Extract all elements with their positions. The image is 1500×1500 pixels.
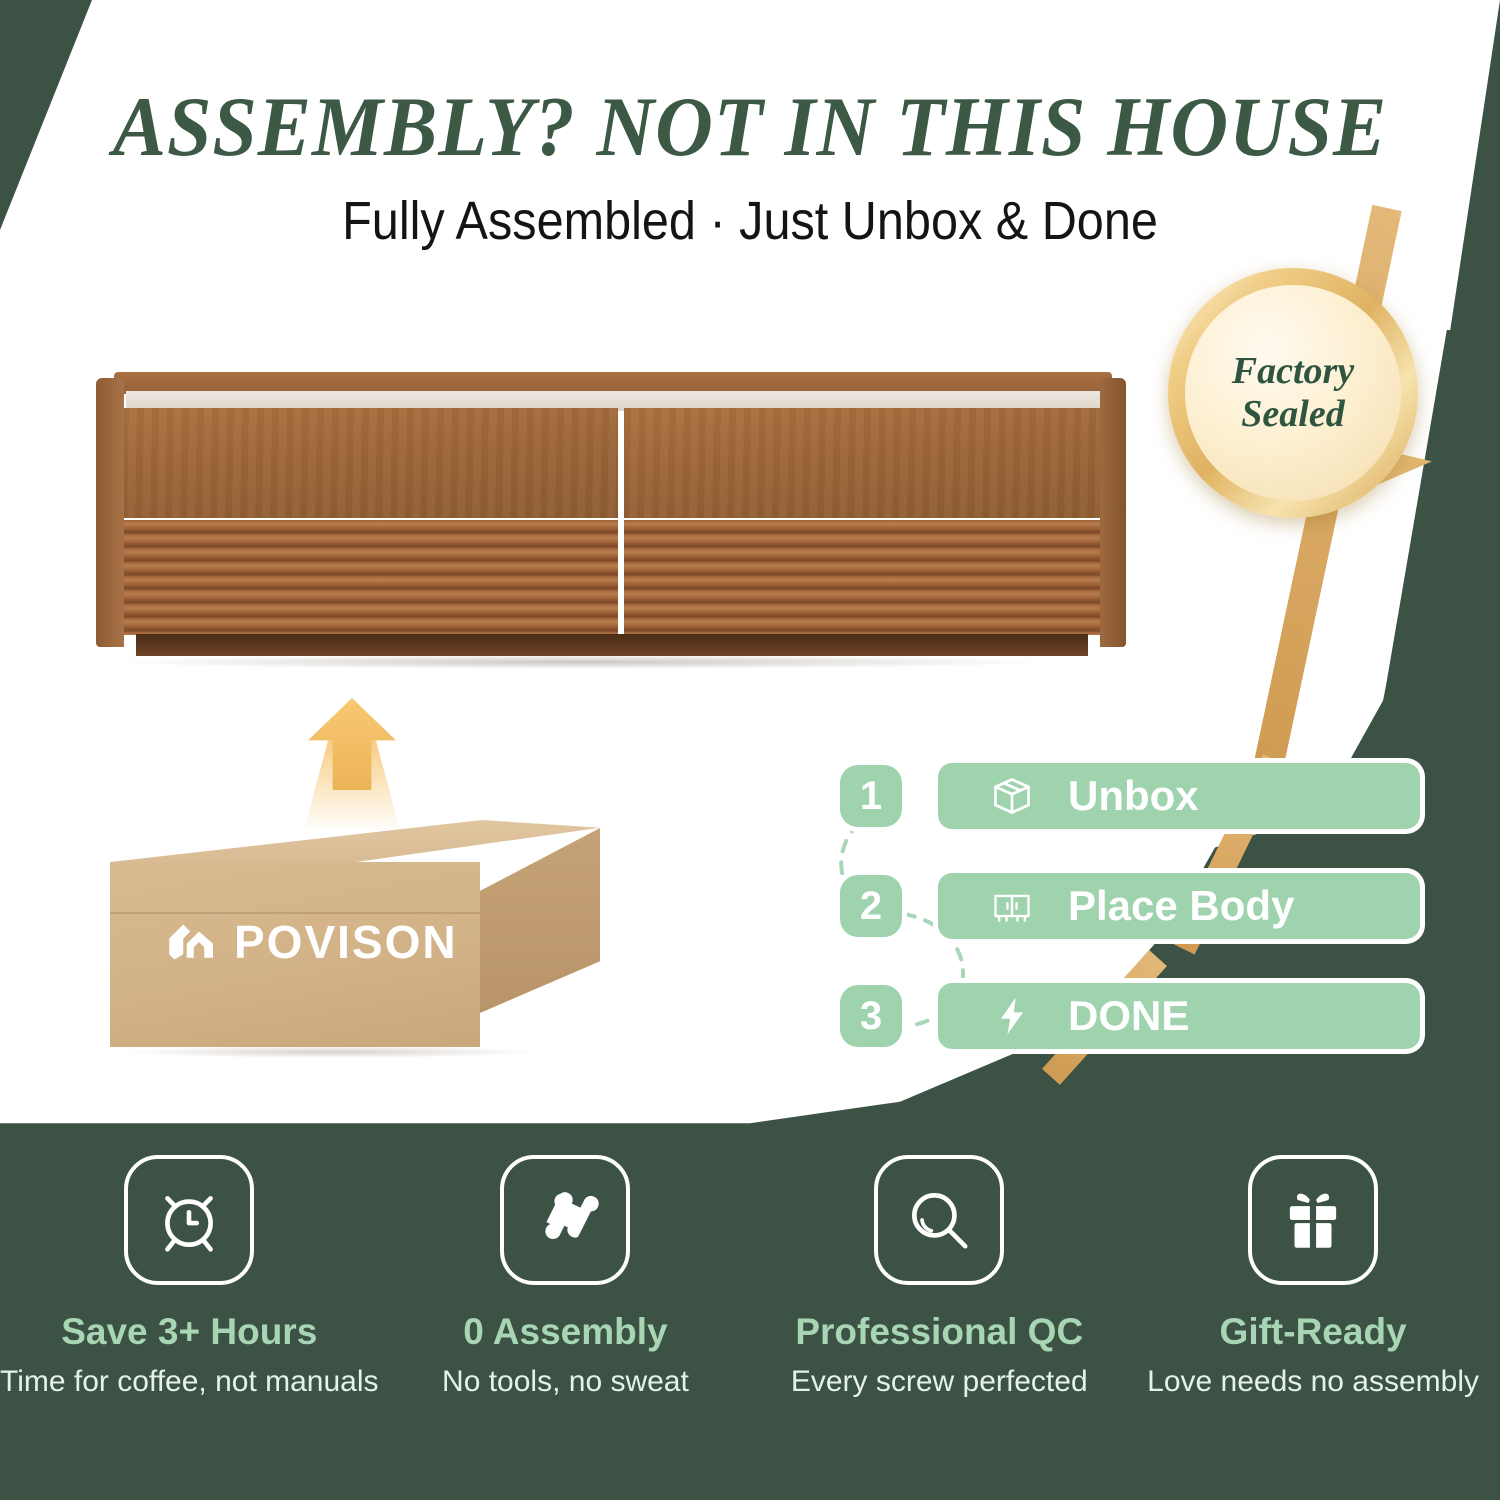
feature-item: 0 Assembly No tools, no sweat [379, 1155, 753, 1399]
povison-house-mark [164, 914, 220, 970]
brand-logo: POVISON [164, 914, 458, 970]
badge-line-1: Factory [1232, 350, 1354, 393]
step-pill[interactable]: DONE [938, 983, 1420, 1049]
step-number-badge: 1 [840, 765, 902, 827]
step-number-badge: 2 [840, 875, 902, 937]
feature-subtitle: No tools, no sweat [442, 1365, 689, 1399]
alarm-clock-icon [152, 1183, 226, 1257]
console-frame-left [96, 378, 124, 647]
step-item[interactable]: 3 DONE [840, 982, 1420, 1050]
feature-item: Gift-Ready Love needs no assembly [1126, 1155, 1500, 1399]
console-drawer-left [122, 408, 618, 518]
product-image-tv-console [96, 372, 1126, 657]
product-shadow [120, 655, 1040, 669]
features-list: Save 3+ Hours Time for coffee, not manua… [0, 1155, 1500, 1399]
cabinet-icon [990, 884, 1034, 928]
feature-title: 0 Assembly [463, 1311, 667, 1353]
upward-arrow-icon [272, 690, 432, 830]
page-title: ASSEMBLY? NOT IN THIS HOUSE [45, 78, 1455, 176]
step-item[interactable]: 2 Place Body [840, 872, 1420, 940]
feature-icon-frame [874, 1155, 1004, 1285]
infographic-canvas: ASSEMBLY? NOT IN THIS HOUSE Fully Assemb… [0, 0, 1500, 1500]
feature-title: Save 3+ Hours [61, 1311, 317, 1353]
puzzle-piece-icon [528, 1183, 602, 1257]
magnifier-icon [902, 1183, 976, 1257]
step-label: Unbox [1068, 772, 1199, 820]
step-label: DONE [1068, 992, 1189, 1040]
brand-wordmark: POVISON [234, 915, 458, 969]
step-number-badge: 3 [840, 985, 902, 1047]
carton-shadow [120, 1046, 540, 1058]
page-subtitle: Fully Assembled · Just Unbox & Done [75, 190, 1425, 252]
shipping-carton: POVISON [110, 820, 600, 1050]
console-frame-right [1100, 378, 1126, 647]
step-pill[interactable]: Place Body [938, 873, 1420, 939]
package-box-icon [990, 774, 1034, 818]
carton-side-face [480, 828, 600, 1013]
lightning-bolt-icon [990, 994, 1034, 1038]
step-pill[interactable]: Unbox [938, 763, 1420, 829]
feature-icon-frame [500, 1155, 630, 1285]
console-fluted-panel-right [624, 520, 1102, 635]
feature-subtitle: Every screw perfected [791, 1365, 1088, 1399]
console-fluted-panel-left [122, 520, 618, 635]
badge-text: Factory Sealed [1168, 268, 1418, 518]
feature-title: Professional QC [795, 1311, 1083, 1353]
console-plinth [136, 634, 1088, 656]
feature-icon-frame [1248, 1155, 1378, 1285]
step-item[interactable]: 1 Unbox [840, 762, 1420, 830]
gift-box-icon [1276, 1183, 1350, 1257]
feature-icon-frame [124, 1155, 254, 1285]
feature-item: Save 3+ Hours Time for coffee, not manua… [0, 1155, 379, 1399]
console-drawer-right [624, 408, 1102, 518]
feature-title: Gift-Ready [1220, 1311, 1407, 1353]
step-label: Place Body [1068, 882, 1294, 930]
feature-subtitle: Love needs no assembly [1147, 1365, 1479, 1399]
feature-item: Professional QC Every screw perfected [752, 1155, 1126, 1399]
steps-list: 1 Unbox 2 [840, 762, 1420, 1062]
badge-line-2: Sealed [1241, 393, 1344, 436]
factory-sealed-badge: Factory Sealed [1168, 268, 1418, 518]
feature-subtitle: Time for coffee, not manuals [0, 1365, 379, 1399]
